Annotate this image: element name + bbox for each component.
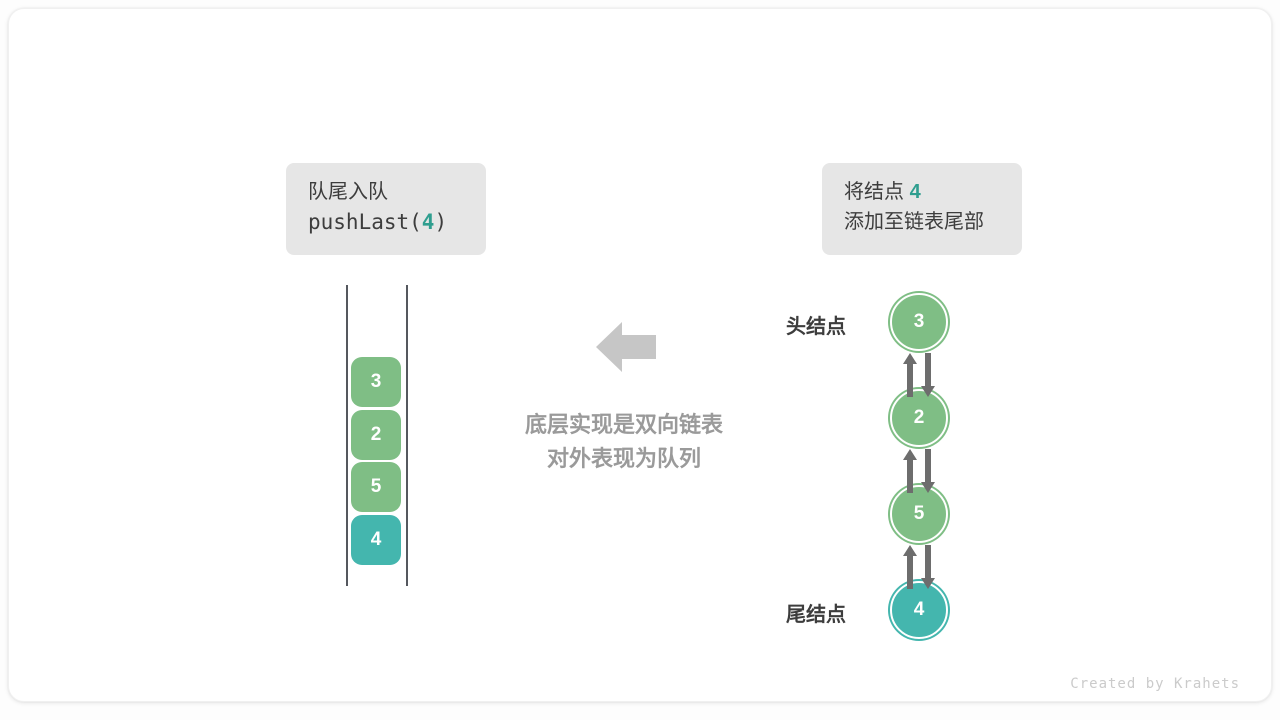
operation-title: 队尾入队 xyxy=(308,177,464,207)
figure-caption: 底层实现是双向链表 对外表现为队列 xyxy=(464,408,784,476)
code-prefix: pushLast( xyxy=(308,210,422,234)
queue-item: 4 xyxy=(351,515,401,565)
operation-code: pushLast(4) xyxy=(308,207,464,239)
description-line-2: 添加至链表尾部 xyxy=(844,207,1000,237)
bidirectional-link-arrow-icon xyxy=(902,545,936,589)
queue-item: 2 xyxy=(351,410,401,460)
description-line-1: 将结点 4 xyxy=(844,177,1000,207)
description-prefix: 将结点 xyxy=(844,181,910,203)
tail-node-label: 尾结点 xyxy=(786,598,846,627)
head-node-label: 头结点 xyxy=(786,310,846,339)
list-node: 3 xyxy=(890,293,948,351)
caption-line-2: 对外表现为队列 xyxy=(464,442,784,476)
bidirectional-link-arrow-icon xyxy=(902,449,936,493)
list-node: 2 xyxy=(890,389,948,447)
queue-rail-left xyxy=(346,285,348,586)
figure-canvas: 队尾入队 pushLast(4) 将结点 4 添加至链表尾部 3 2 5 4 底… xyxy=(0,0,1280,720)
list-node: 4 xyxy=(890,581,948,639)
queue-item: 5 xyxy=(351,462,401,512)
left-block-arrow-icon xyxy=(596,320,656,374)
footer-credit: Created by Krahets xyxy=(1070,676,1240,692)
code-suffix: ) xyxy=(434,210,447,234)
label-chip-description: 将结点 4 添加至链表尾部 xyxy=(822,163,1022,255)
code-value: 4 xyxy=(422,210,435,234)
description-value: 4 xyxy=(910,181,921,203)
queue-rail-right xyxy=(406,285,408,586)
list-node: 5 xyxy=(890,485,948,543)
caption-line-1: 底层实现是双向链表 xyxy=(464,408,784,442)
label-chip-operation: 队尾入队 pushLast(4) xyxy=(286,163,486,255)
queue-item: 3 xyxy=(351,357,401,407)
bidirectional-link-arrow-icon xyxy=(902,353,936,397)
